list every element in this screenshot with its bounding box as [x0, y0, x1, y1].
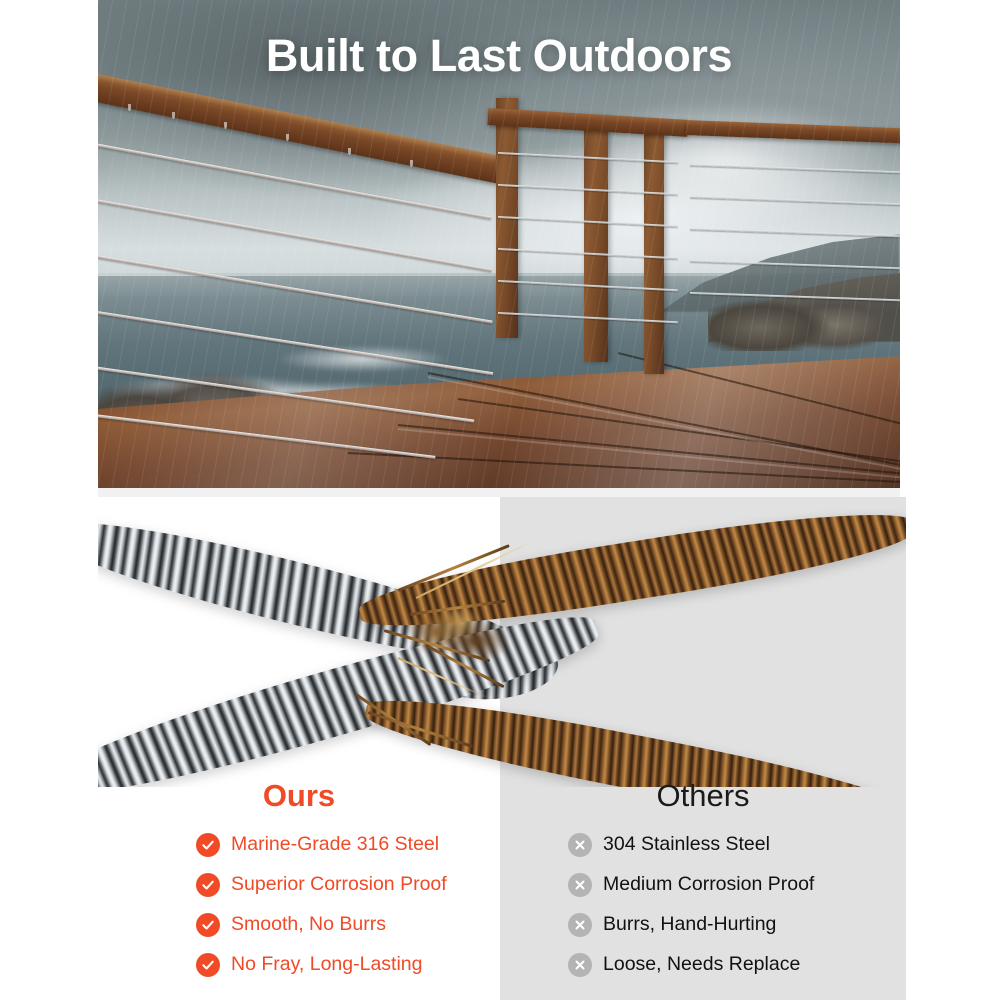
product-infographic-page: Built to Last Outdoors Ours Others	[0, 0, 1000, 1000]
rain-drip	[410, 160, 413, 167]
rocks-right	[708, 293, 884, 352]
ours-heading: Ours	[98, 778, 500, 814]
page-title: Built to Last Outdoors	[98, 30, 900, 82]
list-item: Burrs, Hand-Hurting	[568, 905, 814, 945]
railing-post	[584, 118, 608, 362]
hero-photo: Built to Last Outdoors	[98, 0, 900, 488]
cable-comparison-image	[98, 497, 906, 787]
list-item-label: Superior Corrosion Proof	[231, 875, 447, 895]
list-item: Loose, Needs Replace	[568, 945, 814, 985]
list-item: Medium Corrosion Proof	[568, 865, 814, 905]
list-item-label: 304 Stainless Steel	[603, 835, 770, 855]
others-heading: Others	[500, 778, 906, 814]
list-item: Marine-Grade 316 Steel	[196, 825, 447, 865]
section-divider	[98, 488, 900, 497]
list-item: Smooth, No Burrs	[196, 905, 447, 945]
list-item-label: Smooth, No Burrs	[231, 915, 386, 935]
check-circle-icon	[196, 953, 220, 977]
list-item: Superior Corrosion Proof	[196, 865, 447, 905]
check-circle-icon	[196, 913, 220, 937]
railing-post	[644, 128, 664, 374]
list-item: No Fray, Long-Lasting	[196, 945, 447, 985]
list-item-label: Medium Corrosion Proof	[603, 875, 814, 895]
rain-drip	[348, 148, 351, 155]
ours-feature-list: Marine-Grade 316 Steel Superior Corrosio…	[196, 825, 447, 985]
list-item: 304 Stainless Steel	[568, 825, 814, 865]
check-circle-icon	[196, 833, 220, 857]
x-circle-icon	[568, 833, 592, 857]
list-item-label: Marine-Grade 316 Steel	[231, 835, 439, 855]
list-item-label: No Fray, Long-Lasting	[231, 955, 423, 975]
comparison-panel: Ours Others Marine-Grade 316 Steel Super…	[98, 497, 906, 1000]
rain-drip	[224, 122, 227, 129]
list-item-label: Loose, Needs Replace	[603, 955, 800, 975]
light-cloud	[499, 88, 900, 234]
rain-drip	[172, 112, 175, 119]
rain-drip	[128, 104, 131, 111]
check-circle-icon	[196, 873, 220, 897]
x-circle-icon	[568, 913, 592, 937]
x-circle-icon	[568, 953, 592, 977]
rain-drip	[286, 134, 289, 141]
others-feature-list: 304 Stainless Steel Medium Corrosion Pro…	[568, 825, 814, 985]
x-circle-icon	[568, 873, 592, 897]
list-item-label: Burrs, Hand-Hurting	[603, 915, 776, 935]
